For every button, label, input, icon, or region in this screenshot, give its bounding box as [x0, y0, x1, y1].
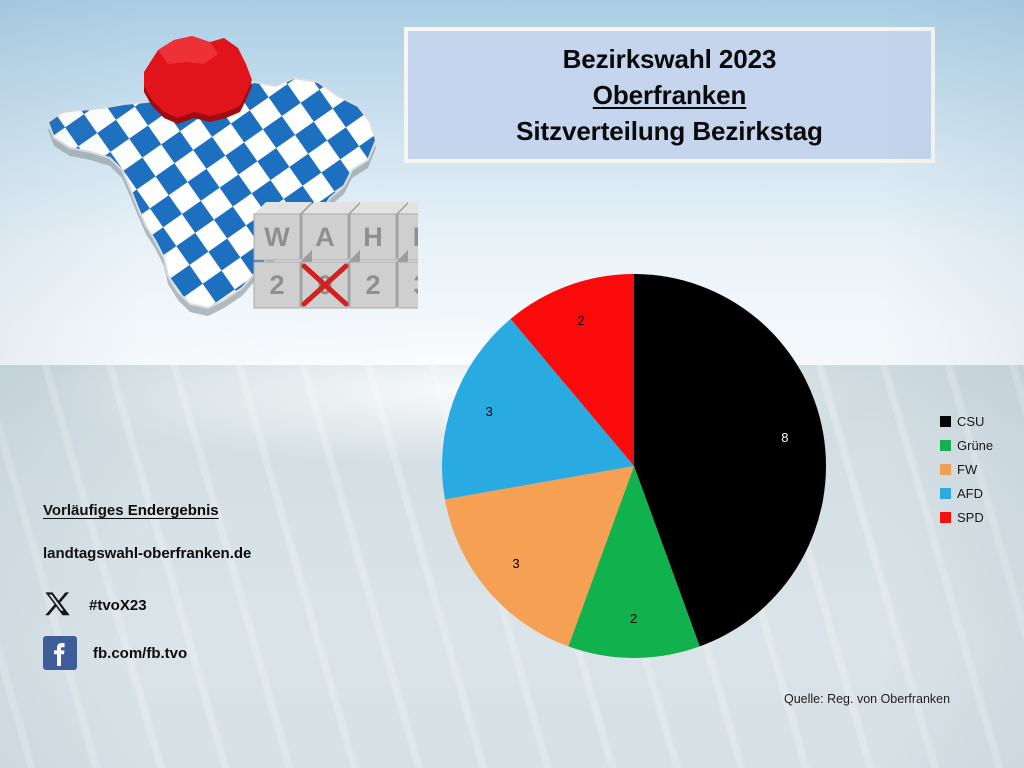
- chart-legend: CSUGrüneFWAFDSPD: [940, 409, 1020, 529]
- bavaria-map-graphic: W A H: [18, 20, 418, 340]
- svg-text:2: 2: [269, 270, 284, 300]
- legend-swatch-afd: [940, 488, 951, 499]
- title-box: Bezirkswahl 2023 Oberfranken Sitzverteil…: [404, 27, 935, 163]
- facebook-f-glyph: [43, 636, 77, 670]
- legend-item-spd[interactable]: SPD: [940, 505, 1020, 529]
- wahl-blocks: W A H: [254, 202, 418, 308]
- title-line-3: Sitzverteilung Bezirkstag: [516, 113, 823, 149]
- facebook-icon[interactable]: [43, 636, 77, 670]
- x-social-row[interactable]: #tvoX23: [43, 591, 373, 619]
- bavaria-map-svg: W A H: [18, 20, 418, 340]
- svg-text:A: A: [315, 222, 335, 252]
- website-url: landtagswahl-oberfranken.de: [43, 545, 373, 562]
- x-twitter-icon[interactable]: [43, 591, 73, 619]
- legend-label: SPD: [957, 510, 984, 525]
- legend-label: FW: [957, 462, 977, 477]
- legend-swatch-fw: [940, 464, 951, 475]
- info-block: Vorläufiges Endergebnis landtagswahl-obe…: [43, 502, 373, 687]
- svg-text:3: 3: [413, 270, 418, 300]
- legend-label: CSU: [957, 414, 984, 429]
- legend-item-afd[interactable]: AFD: [940, 481, 1020, 505]
- region-oberfranken-highlight: [144, 36, 252, 124]
- legend-swatch-spd: [940, 512, 951, 523]
- seat-distribution-pie-chart: 82332: [438, 270, 834, 666]
- x-handle: #tvoX23: [89, 597, 147, 614]
- facebook-social-row[interactable]: fb.com/fb.tvo: [43, 636, 373, 670]
- facebook-handle: fb.com/fb.tvo: [93, 645, 187, 662]
- svg-text:W: W: [264, 222, 290, 252]
- legend-item-csu[interactable]: CSU: [940, 409, 1020, 433]
- svg-text:H: H: [363, 222, 383, 252]
- source-note: Quelle: Reg. von Oberfranken: [784, 692, 950, 706]
- title-line-2: Oberfranken: [593, 77, 747, 113]
- legend-item-fw[interactable]: FW: [940, 457, 1020, 481]
- pie-svg: [438, 270, 834, 666]
- result-status-heading: Vorläufiges Endergebnis: [43, 502, 373, 519]
- slide-canvas: W A H: [0, 0, 1024, 768]
- svg-text:2: 2: [365, 270, 380, 300]
- legend-label: AFD: [957, 486, 983, 501]
- legend-label: Grüne: [957, 438, 993, 453]
- title-line-1: Bezirkswahl 2023: [563, 41, 777, 77]
- legend-swatch-csu: [940, 416, 951, 427]
- legend-swatch-grüne: [940, 440, 951, 451]
- svg-text:L: L: [413, 222, 418, 252]
- legend-item-grüne[interactable]: Grüne: [940, 433, 1020, 457]
